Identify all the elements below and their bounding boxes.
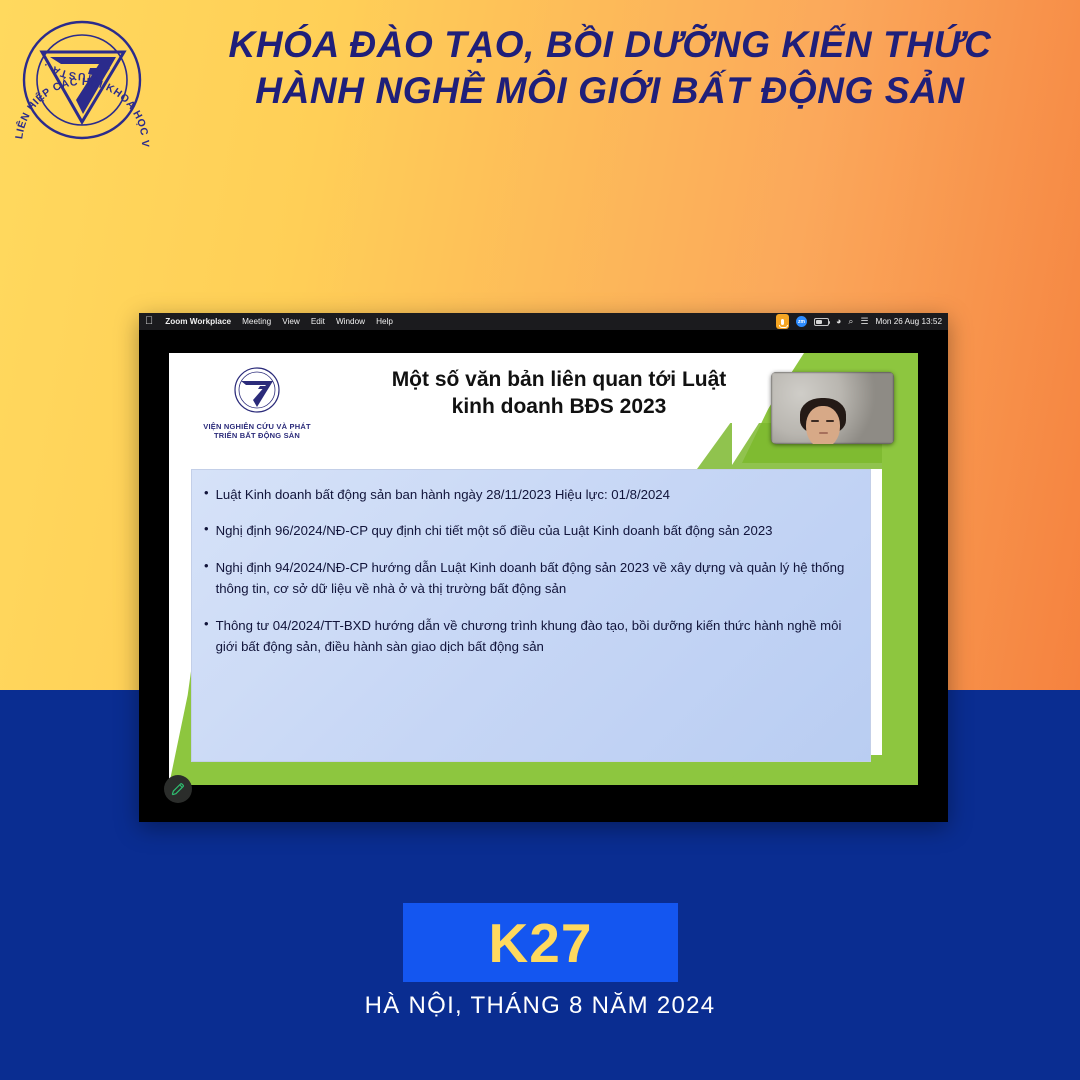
institute-brand: VIỆN NGHIÊN CỨU VÀ PHÁT TRIỂN BẤT ĐỘNG S…	[187, 361, 327, 441]
institute-brand-line-1: VIỆN NGHIÊN CỨU VÀ PHÁT	[187, 422, 327, 431]
poster-title-line-2: HÀNH NGHỀ MÔI GIỚI BẤT ĐỘNG SẢN	[170, 68, 1050, 114]
menu-item-window[interactable]: Window	[336, 317, 365, 326]
macos-menu-bar[interactable]:  Zoom Workplace Meeting View Edit Windo…	[139, 313, 948, 330]
vusta-logo-icon: LIÊN HIỆP CÁC HỘI KHOA HỌC VÀ KỸ THUẬT V…	[6, 4, 158, 156]
poster-header: LIÊN HIỆP CÁC HỘI KHOA HỌC VÀ KỸ THUẬT V…	[0, 0, 1080, 160]
slide-bullet-item: • Nghị định 96/2024/NĐ-CP quy định chi t…	[204, 520, 854, 541]
menu-bar-clock[interactable]: Mon 26 Aug 13:52	[876, 317, 942, 326]
menu-item-view[interactable]: View	[282, 317, 300, 326]
search-icon[interactable]: ⌕	[848, 317, 853, 326]
apple-logo-icon[interactable]: 	[145, 316, 153, 327]
pencil-annotate-icon[interactable]	[164, 775, 192, 803]
avatar-mouth	[819, 432, 828, 434]
slide-bullet-item: • Luật Kinh doanh bất động sản ban hành …	[204, 484, 854, 505]
slide-bullet-text-3: Nghị định 94/2024/NĐ-CP hướng dẫn Luật K…	[216, 557, 854, 600]
slide-bullet-text-2: Nghị định 96/2024/NĐ-CP quy định chi tiế…	[216, 520, 773, 541]
slide-bullet-item: • Nghị định 94/2024/NĐ-CP hướng dẫn Luật…	[204, 557, 854, 600]
poster-footer-caption: HÀ NỘI, THÁNG 8 NĂM 2024	[0, 992, 1080, 1020]
participant-video-thumbnail[interactable]	[771, 372, 894, 444]
menu-item-meeting[interactable]: Meeting	[242, 317, 271, 326]
avatar-eye-left	[811, 420, 819, 422]
menu-item-help[interactable]: Help	[376, 317, 393, 326]
poster-title-block: KHÓA ĐÀO TẠO, BỒI DƯỠNG KIẾN THỨC HÀNH N…	[170, 22, 1050, 115]
poster-title-line-1: KHÓA ĐÀO TẠO, BỒI DƯỠNG KIẾN THỨC	[170, 22, 1050, 68]
slide-title: Một số văn bản liên quan tới Luật kinh d…	[349, 367, 769, 421]
zoom-app-icon[interactable]: zm	[796, 316, 807, 327]
wifi-icon[interactable]: ◕	[836, 317, 841, 326]
avatar-eye-right	[826, 420, 834, 422]
slide-content-panel: • Luật Kinh doanh bất động sản ban hành …	[191, 469, 871, 762]
shared-screen-stage: VIỆN NGHIÊN CỨU VÀ PHÁT TRIỂN BẤT ĐỘNG S…	[139, 330, 948, 822]
course-code-badge: K27	[403, 903, 678, 982]
institute-brand-line-2: TRIỂN BẤT ĐỘNG SẢN	[187, 431, 327, 440]
control-center-icon[interactable]: ☰	[860, 317, 868, 326]
slide-title-line-2: kinh doanh BĐS 2023	[349, 394, 769, 421]
slide-bullet-item: • Thông tư 04/2024/TT-BXD hướng dẫn về c…	[204, 615, 854, 658]
slide-bullet-text-1: Luật Kinh doanh bất động sản ban hành ng…	[216, 484, 670, 505]
bullet-marker-icon: •	[204, 615, 209, 658]
bullet-marker-icon: •	[204, 557, 209, 600]
zoom-meeting-window[interactable]:  Zoom Workplace Meeting View Edit Windo…	[139, 313, 948, 822]
slide-bullet-text-4: Thông tư 04/2024/TT-BXD hướng dẫn về chư…	[216, 615, 854, 658]
battery-icon[interactable]	[814, 318, 829, 326]
participant-avatar	[800, 398, 846, 444]
bullet-marker-icon: •	[204, 484, 209, 505]
menu-item-edit[interactable]: Edit	[311, 317, 325, 326]
slide-title-line-1: Một số văn bản liên quan tới Luật	[349, 367, 769, 394]
bullet-marker-icon: •	[204, 520, 209, 541]
course-code-label: K27	[489, 911, 593, 975]
microphone-active-icon[interactable]	[776, 314, 789, 329]
avatar-face	[806, 406, 840, 444]
vien-nghien-cuu-logo-icon	[228, 361, 286, 419]
menu-item-zoom-workplace[interactable]: Zoom Workplace	[165, 317, 231, 326]
